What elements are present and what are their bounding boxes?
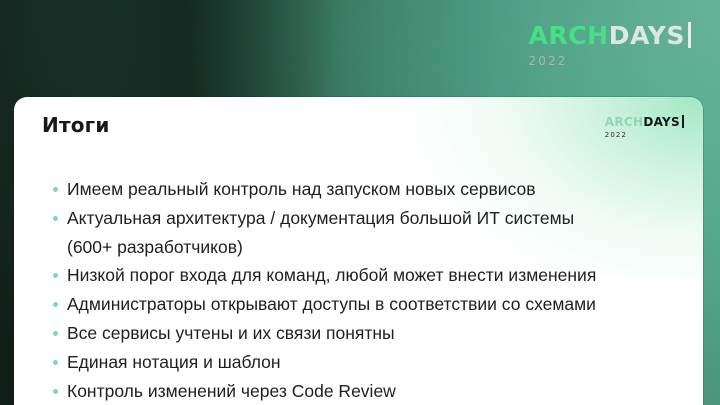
list-item-label: Низкой порог входа для команд, любой мож… (67, 261, 596, 290)
list-item-label: Контроль изменений через Code Review (67, 377, 396, 405)
bullet-dot-icon (53, 360, 58, 365)
list-item: Единая нотация и шаблон (53, 348, 685, 377)
list-item: Имеем реальный контроль над запуском нов… (53, 175, 685, 204)
bullet-dot-icon (53, 187, 58, 192)
backdrop-vignette (0, 0, 300, 110)
list-item: Низкой порог входа для команд, любой мож… (53, 261, 685, 290)
list-item-label: Администраторы открывают доступы в соотв… (67, 290, 596, 319)
header-logo-days-text: DAYS (609, 21, 685, 50)
bullet-dot-icon (53, 389, 58, 394)
bullet-dot-icon (53, 273, 58, 278)
slide-logo-wordmark: ARCHDAYS (605, 115, 684, 128)
header-logo-year: 2022 (529, 55, 692, 67)
slide-card: Итоги ARCHDAYS 2022 Имеем реальный контр… (14, 97, 703, 405)
presentation-screenshot: ARCHDAYS 2022 Итоги ARCHDAYS 2022 Имеем … (0, 0, 720, 405)
list-item-label: Актуальная архитектура / документация бо… (67, 204, 574, 262)
slide-logo-arch-text: ARCH (605, 115, 644, 129)
header-archdays-logo: ARCHDAYS 2022 (529, 22, 692, 67)
list-item: Все сервисы учтены и их связи понятны (53, 319, 685, 348)
slide-title: Итоги (42, 115, 110, 135)
header-logo-arch-text: ARCH (529, 21, 609, 50)
slide-logo-year: 2022 (605, 132, 684, 139)
slide-logo-days-text: DAYS (643, 115, 680, 129)
slide-archdays-logo: ARCHDAYS 2022 (605, 115, 684, 139)
header-logo-wordmark: ARCHDAYS (529, 22, 692, 48)
list-item-label: Единая нотация и шаблон (67, 348, 281, 377)
list-item: Контроль изменений через Code Review (53, 377, 685, 405)
list-item: Администраторы открывают доступы в соотв… (53, 290, 685, 319)
list-item-label: Имеем реальный контроль над запуском нов… (67, 175, 536, 204)
header-logo-bar-icon (688, 22, 691, 48)
slide-bullet-list: Имеем реальный контроль над запуском нов… (53, 175, 685, 405)
bullet-dot-icon (53, 331, 58, 336)
bullet-dot-icon (53, 302, 58, 307)
bullet-dot-icon (53, 216, 58, 221)
list-item: Актуальная архитектура / документация бо… (53, 204, 685, 262)
list-item-label: Все сервисы учтены и их связи понятны (67, 319, 395, 348)
slide-logo-bar-icon (682, 115, 684, 128)
